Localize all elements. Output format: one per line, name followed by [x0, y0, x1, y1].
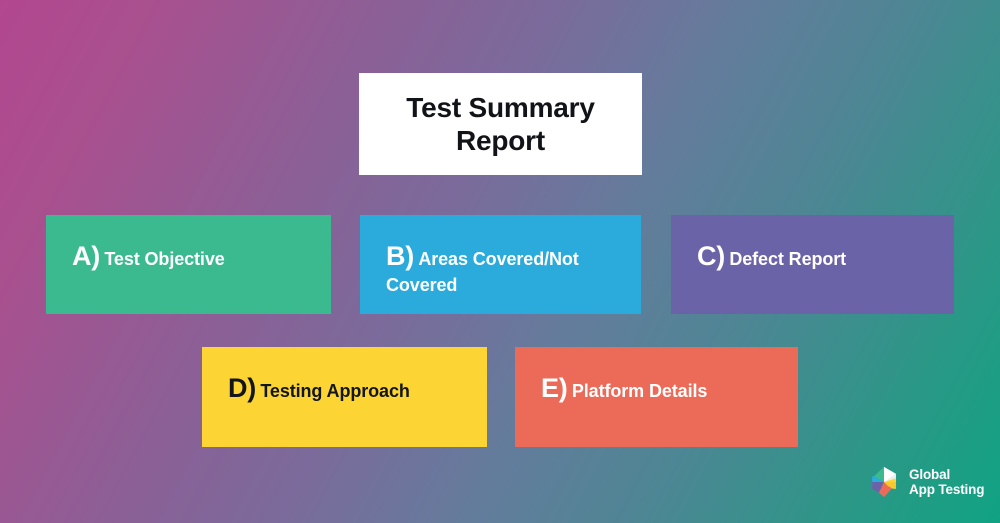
item-box-a[interactable]: A) Test Objective	[46, 215, 331, 314]
item-c-label: Defect Report	[729, 249, 846, 269]
item-box-e[interactable]: E) Platform Details	[515, 347, 798, 447]
logo-line-1: Global	[909, 467, 984, 482]
item-e-label: Platform Details	[572, 381, 707, 401]
logo-line-2: App Testing	[909, 482, 984, 497]
item-e-content: E) Platform Details	[541, 371, 780, 406]
item-d-content: D) Testing Approach	[228, 371, 469, 406]
slide-canvas: Test Summary Report A) Test Objective B)…	[0, 0, 1000, 523]
item-a-letter: A)	[72, 241, 100, 271]
item-box-d[interactable]: D) Testing Approach	[202, 347, 487, 447]
item-e-letter: E)	[541, 373, 567, 403]
brand-logo: Global App Testing	[866, 464, 984, 500]
item-b-label: Areas Covered/Not Covered	[386, 249, 579, 295]
item-d-label: Testing Approach	[260, 381, 409, 401]
item-b-content: B) Areas Covered/Not Covered	[386, 239, 623, 297]
page-title: Test Summary Report	[396, 91, 605, 157]
item-a-content: A) Test Objective	[72, 239, 313, 274]
item-a-label: Test Objective	[104, 249, 224, 269]
item-b-letter: B)	[386, 241, 414, 271]
item-c-content: C) Defect Report	[697, 239, 936, 274]
title-card: Test Summary Report	[359, 73, 642, 175]
title-line-1: Test Summary	[406, 92, 595, 123]
item-c-letter: C)	[697, 241, 725, 271]
item-box-c[interactable]: C) Defect Report	[671, 215, 954, 314]
hexagon-pinwheel-icon	[866, 464, 902, 500]
item-box-b[interactable]: B) Areas Covered/Not Covered	[360, 215, 641, 314]
item-d-letter: D)	[228, 373, 256, 403]
logo-wordmark: Global App Testing	[909, 467, 984, 497]
title-line-2: Report	[456, 125, 545, 156]
